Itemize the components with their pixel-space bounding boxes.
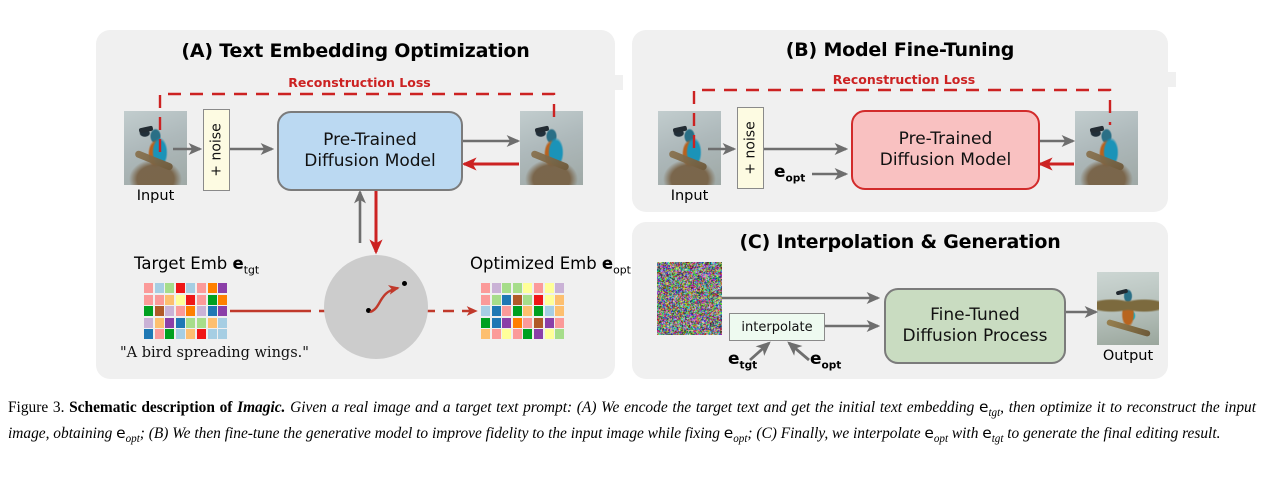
interpolate-box[interactable]: interpolate xyxy=(729,313,825,341)
noise-box-a: + noise xyxy=(203,109,230,191)
arrow-etgt-to-interp-c xyxy=(750,343,769,360)
figure-container: (A) Text Embedding Optimization Reconstr… xyxy=(0,0,1264,487)
panel-b-loss-label: Reconstruction Loss xyxy=(632,72,1176,87)
noise-label-b: + noise xyxy=(743,121,759,174)
embedding-space-circle xyxy=(324,255,428,359)
noise-box-b: + noise xyxy=(737,107,764,189)
pretrained-diffusion-model-box-b: Pre-Trained Diffusion Model xyxy=(851,110,1040,190)
finetuned-diffusion-process-box-c: Fine-Tuned Diffusion Process xyxy=(884,288,1066,364)
arrow-eopt-to-interp-c xyxy=(789,343,809,360)
eopt-dot xyxy=(402,281,407,286)
noise-label-a: + noise xyxy=(209,123,225,176)
pretrained-diffusion-model-box-a: Pre-Trained Diffusion Model xyxy=(277,111,463,191)
etgt-dot xyxy=(366,308,371,313)
panel-a-loss-label: Reconstruction Loss xyxy=(96,75,623,90)
